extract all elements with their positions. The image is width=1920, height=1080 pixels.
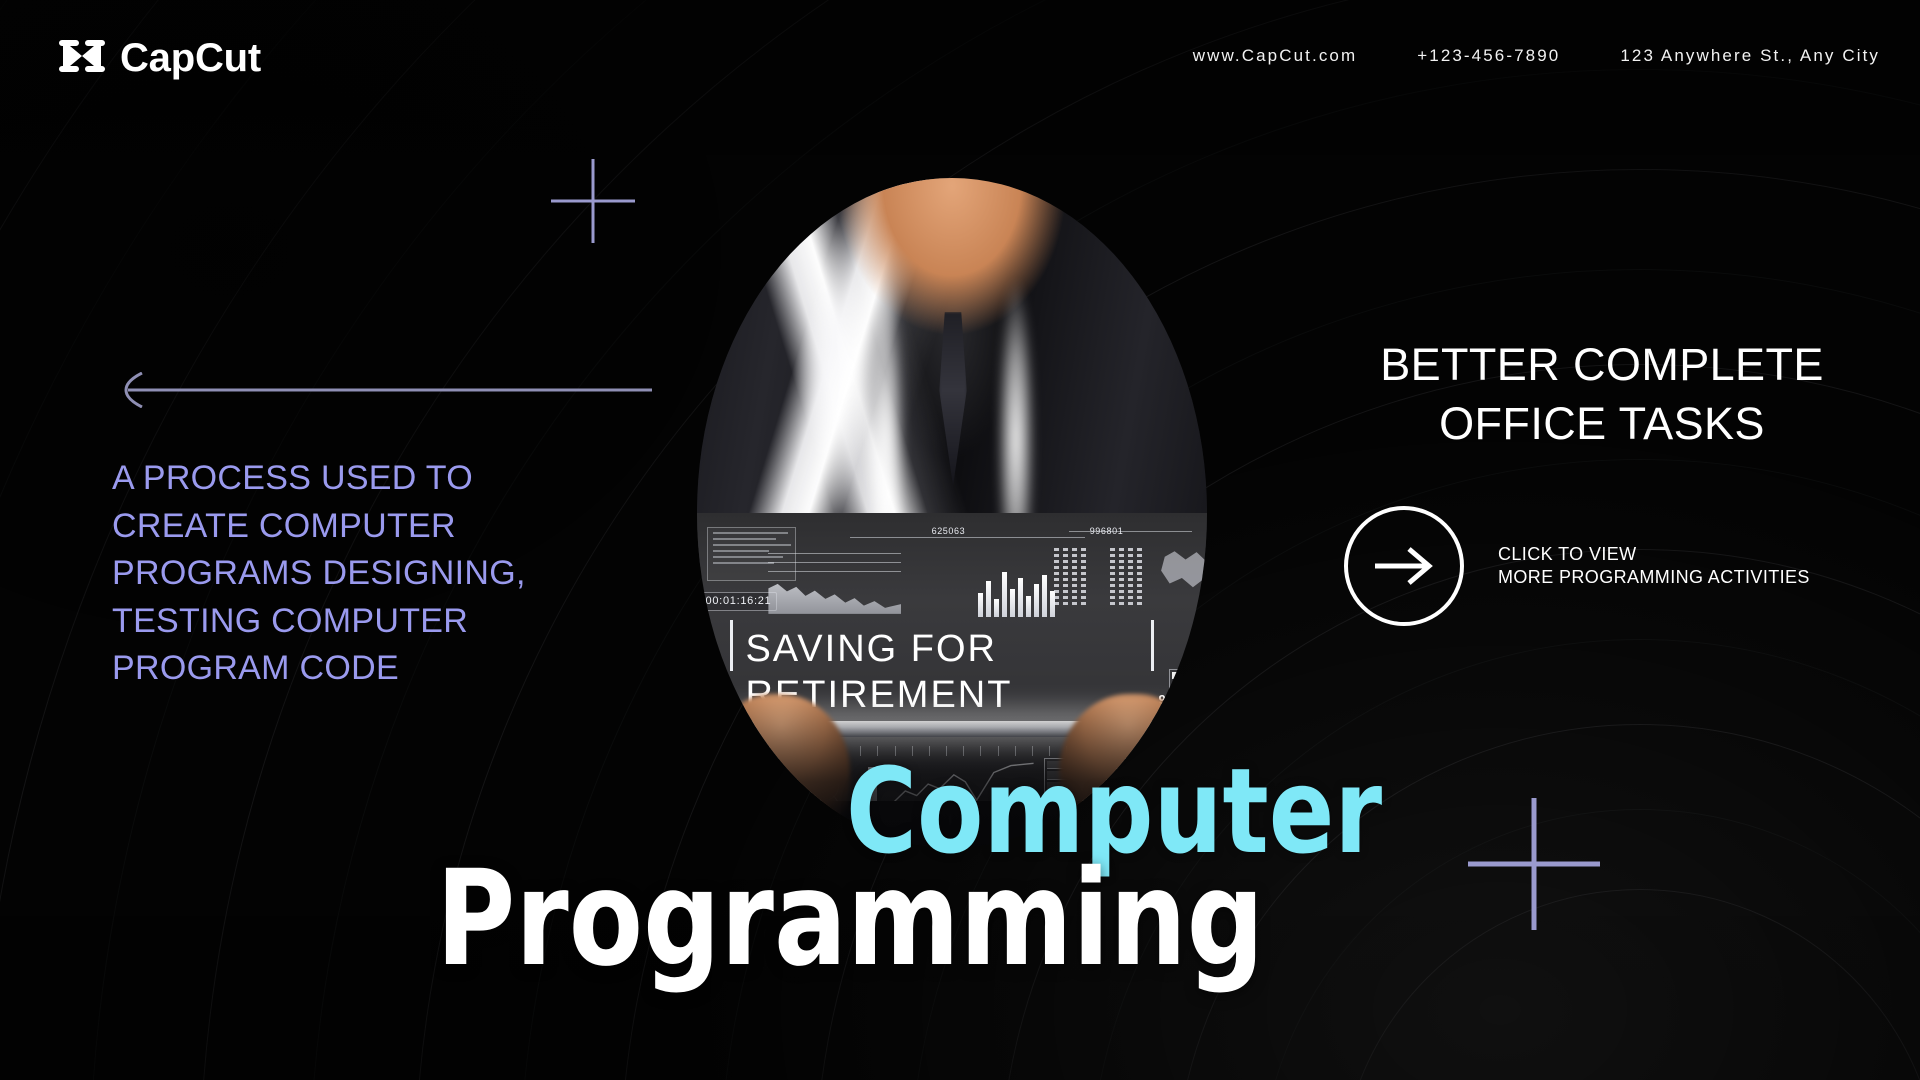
- banner-canvas: CapCut www.CapCut.com +123-456-7890 123 …: [0, 0, 1920, 1080]
- phone-number[interactable]: +123-456-7890: [1417, 46, 1560, 66]
- description-text: A PROCESS USED TO CREATE COMPUTER PROGRA…: [112, 455, 582, 693]
- capcut-logo[interactable]: CapCut: [58, 36, 261, 81]
- hud-dot-matrix-left: [1054, 548, 1086, 605]
- hud-timecode: 00:01:16:21: [700, 592, 778, 611]
- header-contact-info: www.CapCut.com +123-456-7890 123 Anywher…: [1020, 46, 1880, 66]
- street-address: 123 Anywhere St., Any City: [1620, 46, 1880, 66]
- cta-text: CLICK TO VIEW MORE PROGRAMMING ACTIVITIE…: [1498, 543, 1810, 590]
- hud-value-left: 625063: [932, 526, 966, 536]
- capcut-wordmark: CapCut: [120, 36, 261, 81]
- hud-dot-matrix-right: [1110, 548, 1142, 605]
- plus-vertical-bar: [592, 159, 595, 243]
- hud-bar-chart: [978, 571, 1055, 617]
- plus-decoration-icon-bottom: [1468, 798, 1600, 930]
- hud-title-bar: [730, 620, 733, 672]
- arrow-right-circle-icon[interactable]: [1344, 506, 1464, 626]
- cta-block[interactable]: CLICK TO VIEW MORE PROGRAMMING ACTIVITIE…: [1344, 506, 1810, 626]
- hero-photo-oval: 625063 996801 00:01:16:21: [697, 178, 1207, 848]
- right-heading: BETTER COMPLETE OFFICE TASKS: [1342, 336, 1862, 453]
- photo-bottom-shade: [697, 701, 1207, 848]
- photo-businessman-tablet: 625063 996801 00:01:16:21: [697, 178, 1207, 848]
- plus-decoration-icon-top: [551, 159, 635, 243]
- hud-rule: [768, 553, 901, 554]
- hud-connector-line-right: [1069, 531, 1191, 532]
- hud-connector-line: [850, 537, 1085, 538]
- cta-line-2: MORE PROGRAMMING ACTIVITIES: [1498, 566, 1810, 589]
- hud-rule: [768, 562, 901, 563]
- capcut-logo-icon: [58, 36, 106, 81]
- cta-line-1: CLICK TO VIEW: [1498, 543, 1810, 566]
- hud-title-bar-right: [1151, 620, 1154, 672]
- hud-world-map: [1161, 548, 1207, 594]
- hud-title-line-1: SAVING FOR: [745, 628, 997, 671]
- arrow-left-icon: [112, 372, 652, 408]
- website-link[interactable]: www.CapCut.com: [1193, 46, 1358, 66]
- hud-area-chart: [768, 576, 901, 613]
- plus-vertical-bar: [1532, 798, 1537, 930]
- hud-rule: [768, 571, 901, 572]
